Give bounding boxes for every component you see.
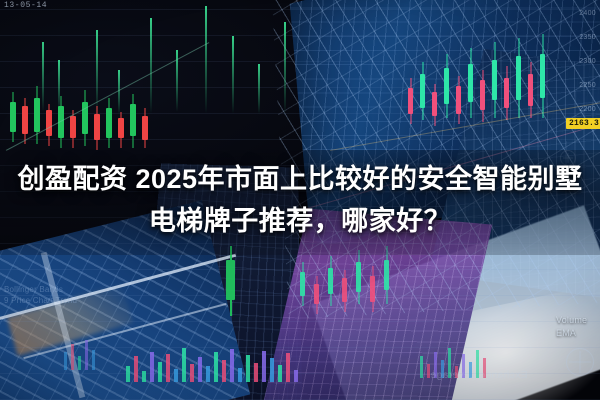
headline-line-2: 电梯牌子推荐，哪家好？ bbox=[0, 200, 600, 242]
page-title: 创盈配资 2025年市面上比较好的安全智能别墅 电梯牌子推荐，哪家好？ bbox=[0, 158, 600, 242]
headline-line-1: 创盈配资 2025年市面上比较好的安全智能别墅 bbox=[0, 158, 600, 200]
banner-image: 13-05-14 2400 2350 2300 2250 2200 2163.3… bbox=[0, 0, 600, 400]
